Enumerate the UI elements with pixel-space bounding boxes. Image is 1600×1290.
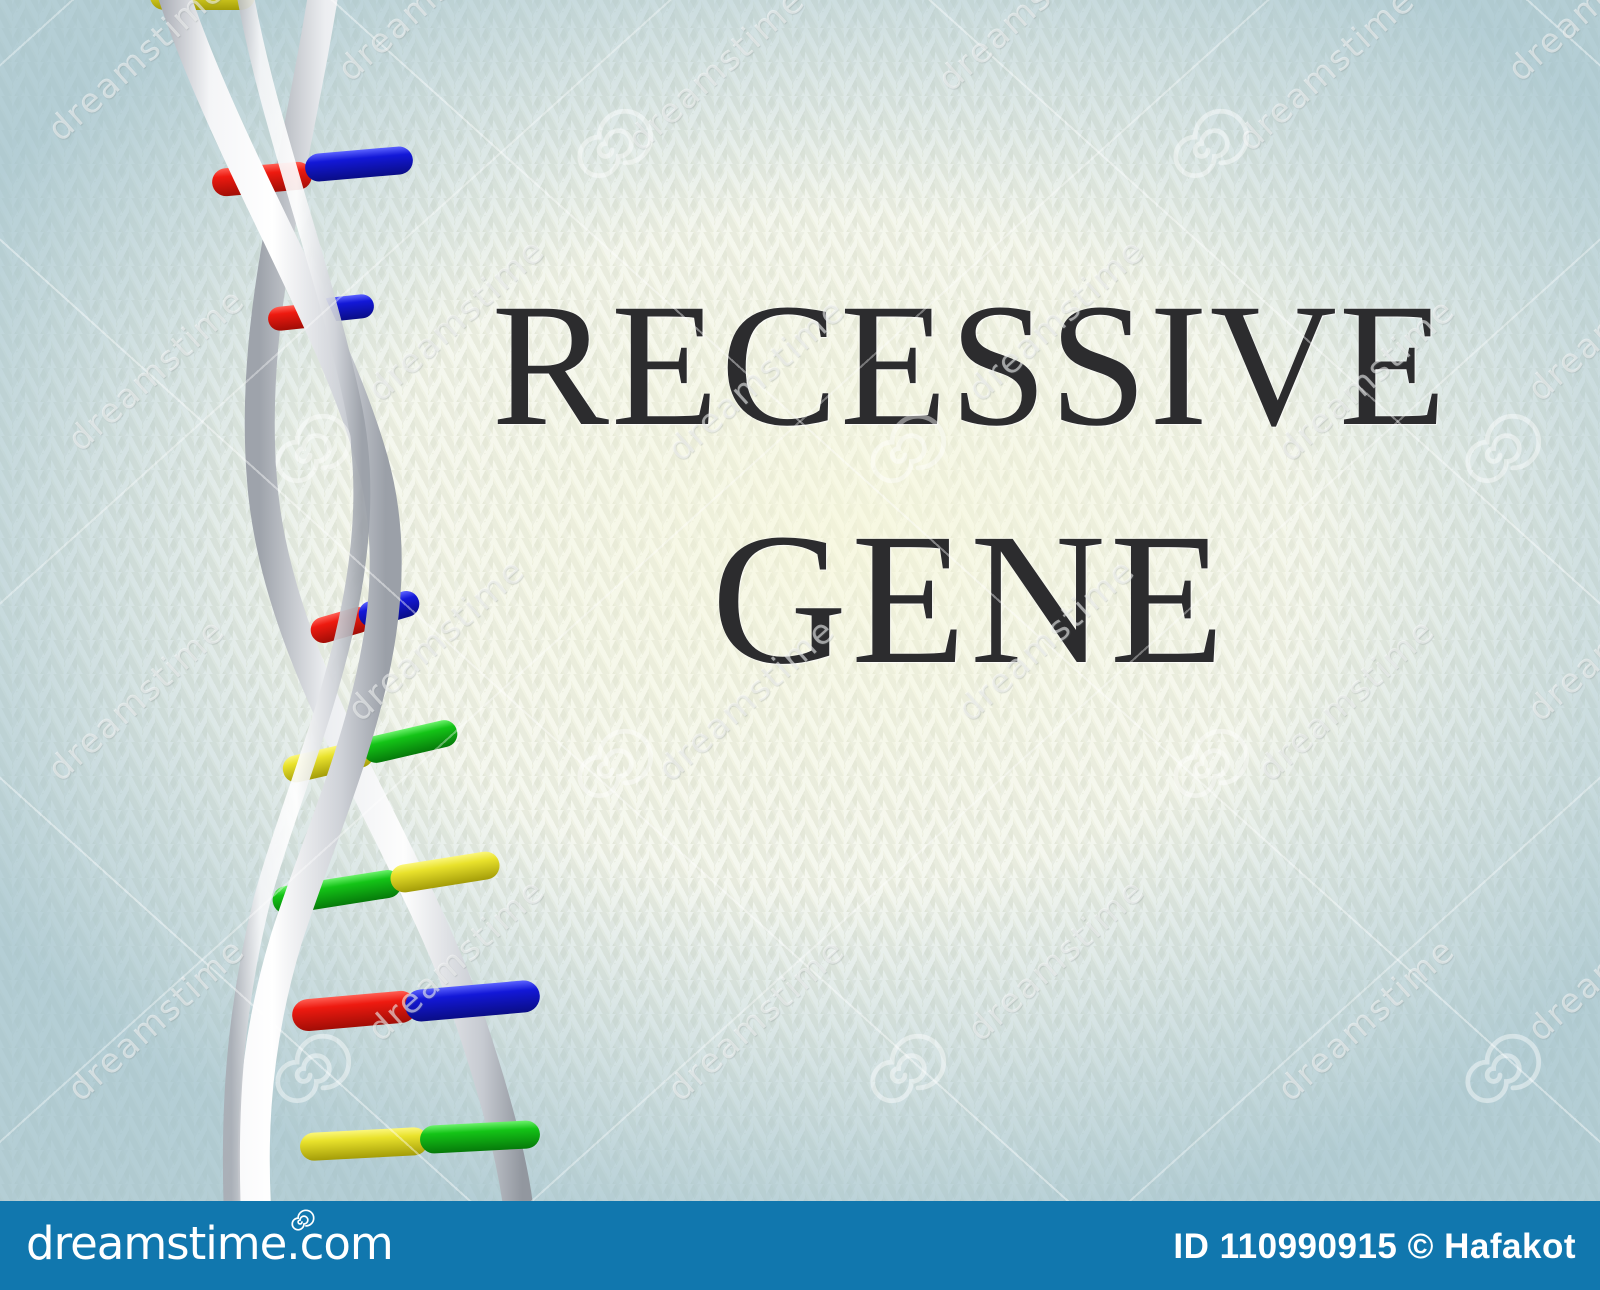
image-id-and-author-credit: ID 110990915 © Hafakot [1173, 1227, 1576, 1267]
headline-line-2: GENE [420, 509, 1520, 689]
photo-content-area: RECESSIVE GENE dreamstimedreamstimedream… [0, 0, 1600, 1201]
dreamstime-footer-bar: dreamstime.com ID 110990915 © Hafakot [0, 1201, 1600, 1290]
dreamstime-logo-text[interactable]: dreamstime.com [26, 1217, 393, 1270]
dreamstime-spiral-icon [289, 1209, 315, 1235]
headline-line-1: RECESSIVE [420, 282, 1520, 451]
headline-text-block: RECESSIVE GENE [420, 282, 1520, 689]
stock-photo-canvas: RECESSIVE GENE dreamstimedreamstimedream… [0, 0, 1600, 1290]
